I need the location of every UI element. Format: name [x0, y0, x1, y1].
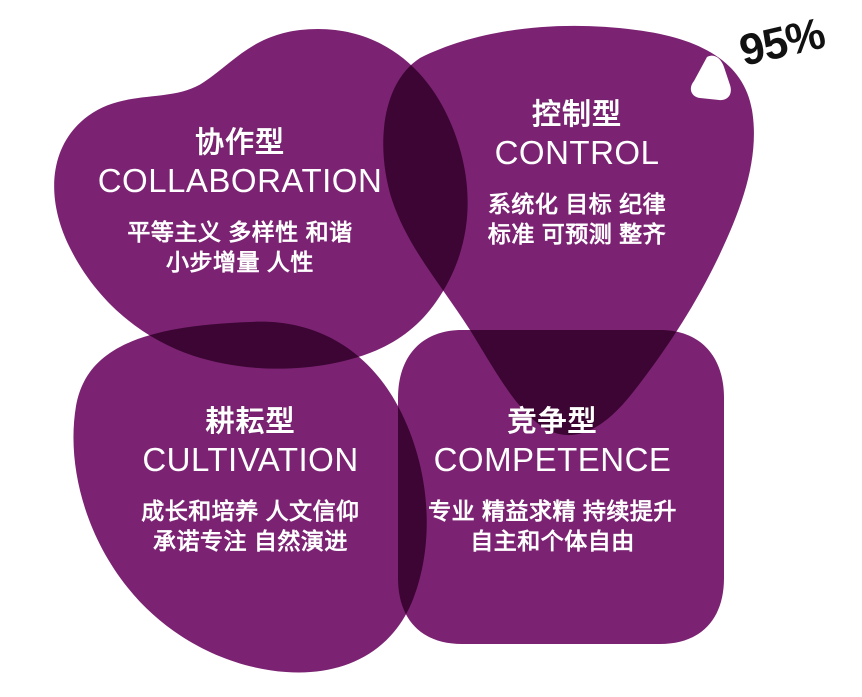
- quadrant-control-en-title: CONTROL: [432, 134, 722, 173]
- quadrant-competence-cn-title: 竞争型: [400, 405, 705, 439]
- quadrant-collaboration-keywords-line1: 平等主义 多样性 和谐: [75, 219, 405, 246]
- quadrant-cultivation: 耕耘型 CULTIVATION 成长和培养 人文信仰 承诺专注 自然演进: [93, 405, 408, 555]
- culture-quadrant-diagram: 协作型 COLLABORATION 平等主义 多样性 和谐 小步增量 人性 控制…: [0, 0, 862, 697]
- quadrant-cultivation-cn-title: 耕耘型: [93, 405, 408, 439]
- quadrant-cultivation-keywords-line2: 承诺专注 自然演进: [93, 528, 408, 555]
- quadrant-competence-en-title: COMPETENCE: [400, 441, 705, 480]
- quadrant-control-keywords-line2: 标准 可预测 整齐: [432, 221, 722, 248]
- quadrant-collaboration-en-title: COLLABORATION: [75, 162, 405, 201]
- quadrant-cultivation-keywords-line1: 成长和培养 人文信仰: [93, 498, 408, 525]
- quadrant-cultivation-en-title: CULTIVATION: [93, 441, 408, 480]
- quadrant-control-cn-title: 控制型: [432, 98, 722, 132]
- blob-artwork-layer: [0, 0, 862, 697]
- quadrant-control-keywords-line1: 系统化 目标 纪律: [432, 191, 722, 218]
- quadrant-competence: 竞争型 COMPETENCE 专业 精益求精 持续提升 自主和个体自由: [400, 405, 705, 555]
- quadrant-collaboration-cn-title: 协作型: [75, 126, 405, 160]
- quadrant-collaboration: 协作型 COLLABORATION 平等主义 多样性 和谐 小步增量 人性: [75, 126, 405, 276]
- quadrant-competence-keywords-line2: 自主和个体自由: [400, 528, 705, 555]
- quadrant-collaboration-keywords-line2: 小步增量 人性: [75, 249, 405, 276]
- quadrant-control: 控制型 CONTROL 系统化 目标 纪律 标准 可预测 整齐: [432, 98, 722, 248]
- quadrant-competence-keywords-line1: 专业 精益求精 持续提升: [400, 498, 705, 525]
